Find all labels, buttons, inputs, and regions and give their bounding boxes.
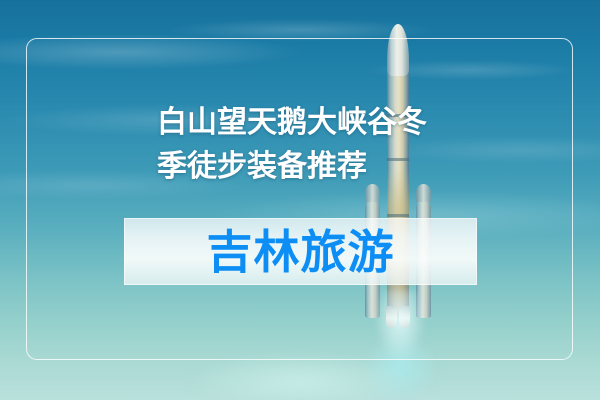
page-title: 白山望天鹅大峡谷冬 季徒步装备推荐: [157, 101, 457, 189]
banner-image: 白山望天鹅大峡谷冬 季徒步装备推荐 吉林旅游: [0, 0, 600, 400]
smoke-cloud-upper: [0, 270, 600, 400]
brand-band: 吉林旅游: [124, 218, 477, 285]
rocket-nose-cone: [387, 24, 409, 76]
brand-label: 吉林旅游: [207, 229, 395, 275]
